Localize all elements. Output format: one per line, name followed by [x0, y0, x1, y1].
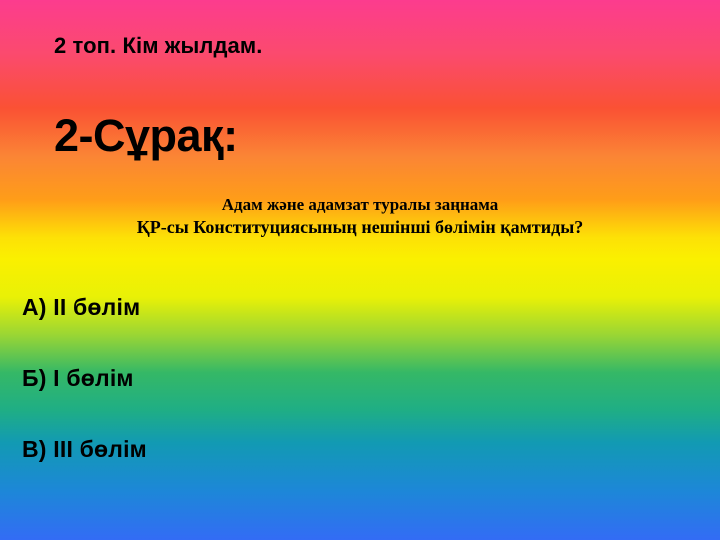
- presentation-slide: 2 топ. Кім жылдам. 2-Сұрақ: Адам және ад…: [0, 0, 720, 540]
- question-line-1: Адам және адамзат туралы заңнама: [20, 194, 700, 216]
- answer-option-a[interactable]: А) II бөлім: [22, 292, 622, 363]
- answer-option-b[interactable]: Б) I бөлім: [22, 363, 622, 434]
- question-heading: 2-Сұрақ:: [54, 112, 238, 159]
- question-body: Адам және адамзат туралы заңнама ҚР-сы К…: [0, 194, 720, 239]
- answer-options-list: А) II бөлім Б) I бөлім В) III бөлім: [22, 292, 622, 464]
- question-line-2: ҚР-сы Конституциясының нешінші бөлімін қ…: [20, 216, 700, 239]
- group-label: 2 топ. Кім жылдам.: [54, 33, 262, 59]
- answer-option-v[interactable]: В) III бөлім: [22, 434, 622, 464]
